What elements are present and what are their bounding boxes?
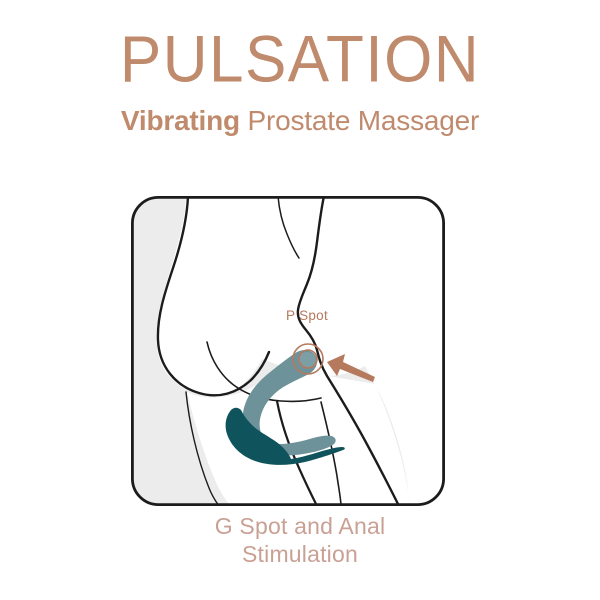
caption-line-2: Stimulation	[0, 540, 600, 568]
illustration-canvas	[131, 196, 445, 506]
caption: G Spot and Anal Stimulation	[0, 512, 600, 568]
p-spot-label: P Spot	[286, 308, 328, 323]
caption-line-1: G Spot and Anal	[0, 512, 600, 540]
header: PULSATION Vibrating Prostate Massager	[0, 0, 600, 137]
subtitle-rest: Prostate Massager	[240, 105, 479, 136]
page-title: PULSATION	[0, 0, 600, 93]
anatomy-illustration: P Spot	[131, 196, 445, 506]
product-graphic-page: PULSATION Vibrating Prostate Massager	[0, 0, 600, 600]
subtitle-emphasis: Vibrating	[121, 105, 240, 136]
